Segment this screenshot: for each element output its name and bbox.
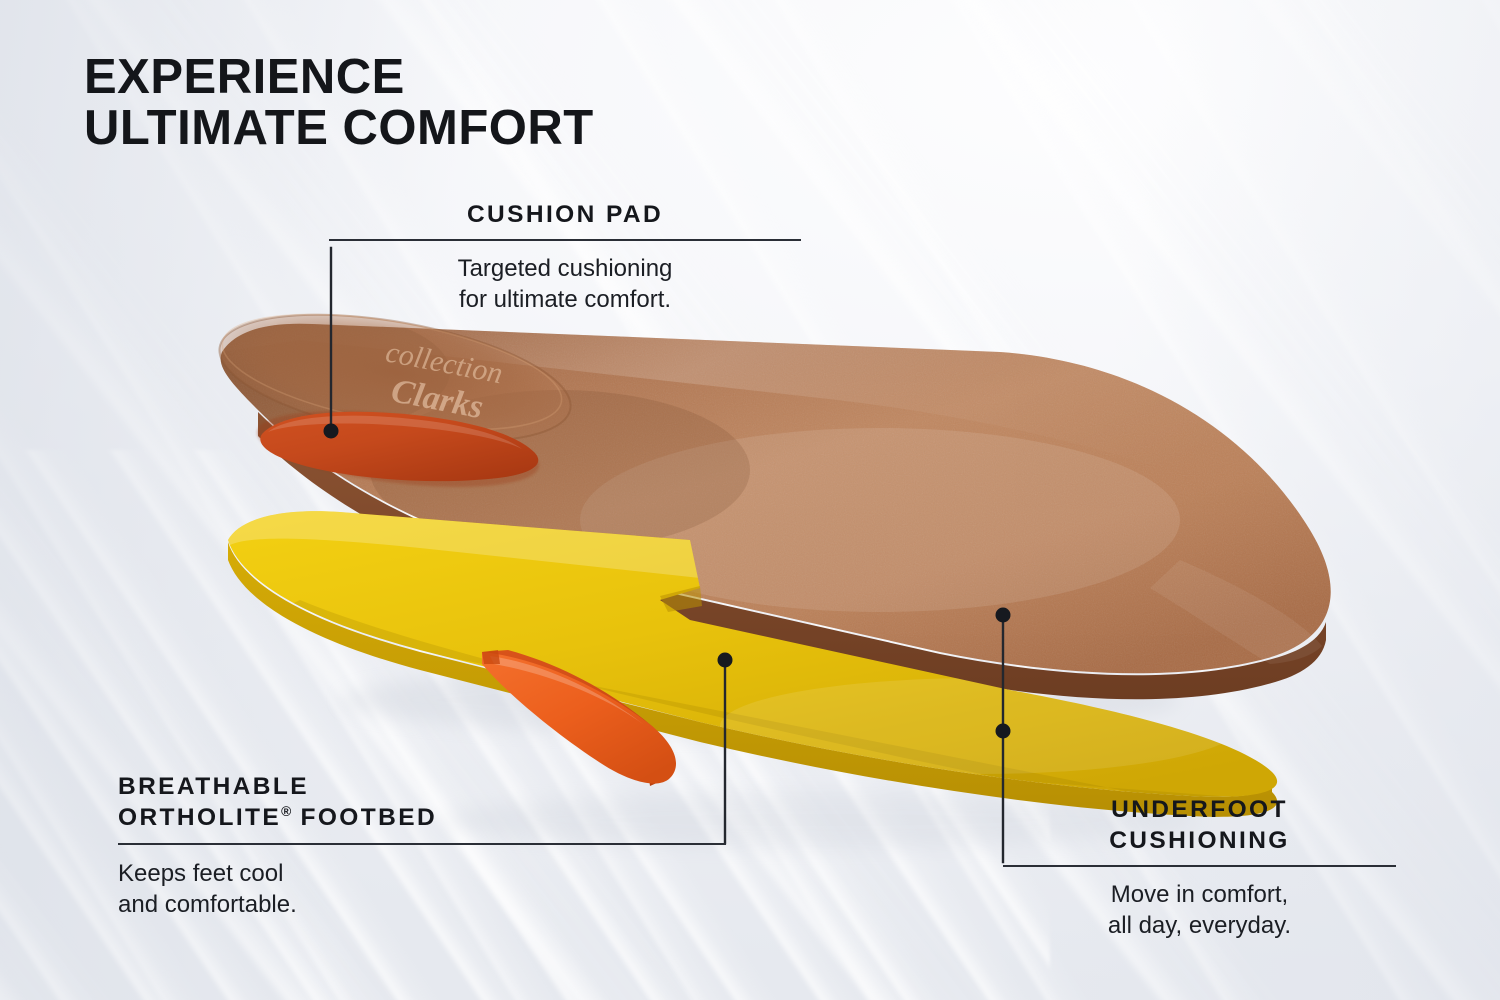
anchor-dot-underfoot-footbed bbox=[996, 724, 1011, 739]
callout-cushion-pad: CUSHION PAD Targeted cushioning for ulti… bbox=[329, 200, 801, 315]
anchor-dot-cushion-pad bbox=[324, 424, 339, 439]
callout-ortholite: BREATHABLE ORTHOLITE® FOOTBED Keeps feet… bbox=[118, 772, 726, 920]
callout-ortholite-title: BREATHABLE ORTHOLITE® FOOTBED bbox=[118, 772, 726, 834]
callout-ortholite-rule bbox=[118, 843, 726, 845]
callout-underfoot-title: UNDERFOOT CUSHIONING bbox=[1003, 795, 1396, 857]
callout-underfoot: UNDERFOOT CUSHIONING Move in comfort, al… bbox=[1003, 795, 1396, 941]
infographic-root: EXPERIENCE ULTIMATE COMFORT bbox=[0, 0, 1500, 1000]
anchor-dot-underfoot-insole bbox=[996, 608, 1011, 623]
callout-underfoot-rule bbox=[1003, 865, 1396, 867]
callout-cushion-pad-description: Targeted cushioning for ultimate comfort… bbox=[329, 253, 801, 315]
registered-trademark-icon: ® bbox=[281, 804, 291, 819]
callout-cushion-pad-rule bbox=[329, 239, 801, 241]
wedge-tip-facet bbox=[482, 650, 500, 664]
callout-underfoot-description: Move in comfort, all day, everyday. bbox=[1003, 879, 1396, 941]
callout-ortholite-title-tail: FOOTBED bbox=[291, 804, 437, 831]
callout-ortholite-description: Keeps feet cool and comfortable. bbox=[118, 858, 726, 920]
anchor-dot-ortholite bbox=[718, 653, 733, 668]
callout-ortholite-title-main: BREATHABLE ORTHOLITE bbox=[118, 773, 309, 831]
callout-cushion-pad-title: CUSHION PAD bbox=[329, 200, 801, 231]
